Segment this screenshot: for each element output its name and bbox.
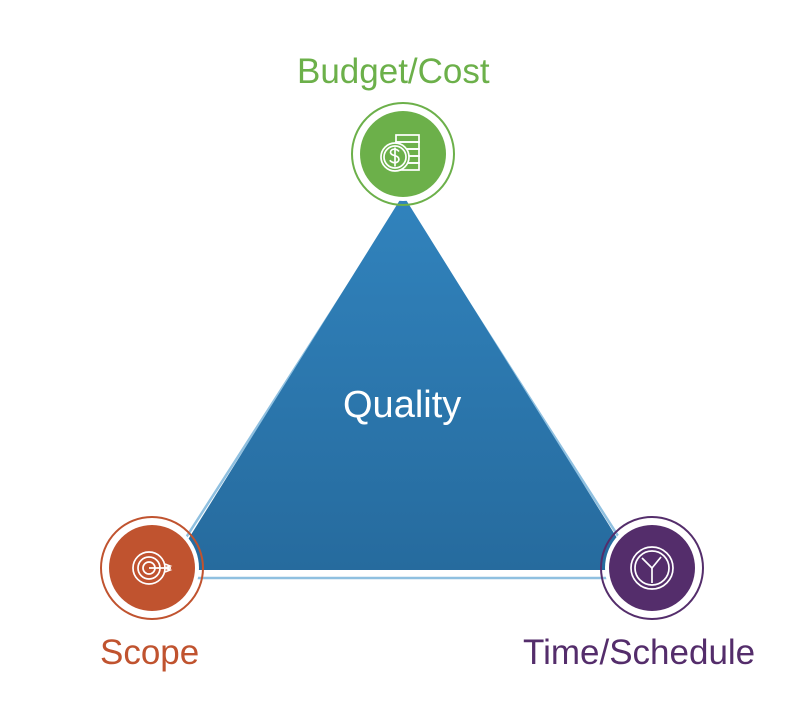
clock-icon: [624, 540, 680, 596]
node-label-scope: Scope: [100, 635, 199, 670]
node-label-time: Time/Schedule: [523, 635, 755, 670]
time-disc: [609, 525, 695, 611]
center-label-quality: Quality: [343, 386, 461, 424]
node-label-budget: Budget/Cost: [297, 54, 490, 89]
triangle-fill: [169, 195, 637, 570]
node-scope[interactable]: [100, 516, 204, 620]
scope-disc: [109, 525, 195, 611]
triple-constraint-diagram: Budget/Cost Scope: [0, 0, 800, 718]
target-arrow-icon: [124, 540, 180, 596]
budget-disc: [360, 111, 446, 197]
money-stack-icon: [375, 126, 431, 182]
node-time[interactable]: [600, 516, 704, 620]
node-budget[interactable]: [351, 102, 455, 206]
